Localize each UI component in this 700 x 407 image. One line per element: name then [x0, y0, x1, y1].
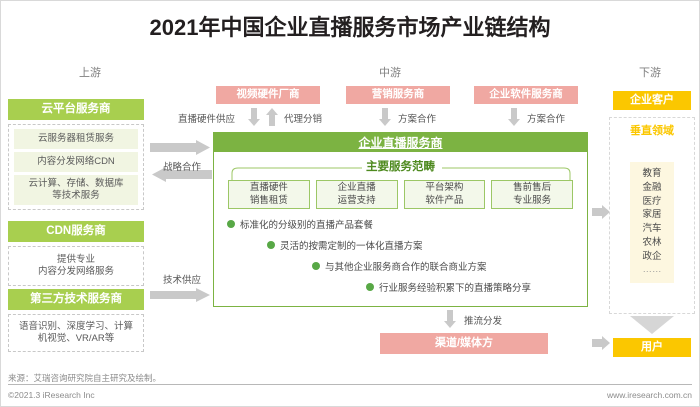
bullet-label: 标准化的分级别的直播产品套餐 — [240, 217, 373, 231]
section-label-midstream: 中游 — [350, 64, 430, 80]
up-arrow-icon — [266, 108, 278, 126]
page-title: 2021年中国企业直播服务市场产业链结构 — [0, 10, 700, 42]
panel-bullet-2: 灵活的按需定制的一体化直播方案 — [267, 238, 423, 252]
bullet-dot-icon — [366, 283, 374, 291]
down-arrow-icon — [379, 108, 391, 126]
footer-divider-top — [8, 384, 692, 385]
upstream-item: 云服务器租赁服务 — [14, 129, 138, 149]
vertical-item: 医疗 — [630, 195, 674, 209]
panel-bullet-4: 行业服务经验积累下的直播策略分享 — [366, 280, 531, 294]
vertical-item: 政企 — [630, 250, 674, 264]
channel-media-box: 渠道/媒体方 — [380, 333, 548, 354]
partner-box-video-hardware: 视频硬件厂商 — [216, 86, 320, 104]
upstream-header-cloud-platform: 云平台服务商 — [8, 99, 144, 120]
scope-box-pre-post-sales: 售前售后 专业服务 — [491, 180, 573, 209]
upstream-item: 云计算、存储、数据库 等技术服务 — [14, 175, 138, 205]
vertical-item: 家居 — [630, 208, 674, 222]
source-note: 来源：艾瑞咨询研究院自主研究及绘制。 — [8, 372, 161, 384]
upstream-item: 提供专业 内容分发网络服务 — [14, 251, 138, 281]
right-arrow-icon — [592, 205, 610, 219]
infographic-canvas: 2021年中国企业直播服务市场产业链结构 上游 中游 下游 云平台服务商 云服务… — [0, 0, 700, 407]
connector-agent-distribution-arrow — [266, 108, 278, 126]
partner-box-enterprise-software: 企业软件服务商 — [474, 86, 578, 104]
upstream-item: 语音识别、深度学习、计算 机视觉、VR/AR等 — [14, 319, 138, 348]
bullet-dot-icon — [312, 262, 320, 270]
connector-solution-coop-arrow-1 — [379, 108, 391, 126]
vertical-item: 农林 — [630, 236, 674, 250]
right-arrow-icon — [592, 336, 610, 350]
upstream-header-cdn: CDN服务商 — [8, 221, 144, 242]
connector-stream-distribution-arrow — [444, 310, 456, 328]
connector-label-solution-coop-1: 方案合作 — [398, 111, 436, 125]
downstream-vertical-label: 垂直领域 — [630, 118, 674, 140]
connector-solution-coop-arrow-2 — [508, 108, 520, 126]
section-label-upstream: 上游 — [50, 64, 130, 80]
bullet-dot-icon — [227, 220, 235, 228]
down-arrow-icon — [444, 310, 456, 328]
upstream-items-cdn: 提供专业 内容分发网络服务 — [8, 246, 144, 286]
panel-bullet-1: 标准化的分级别的直播产品套餐 — [227, 217, 373, 231]
vertical-item: 金融 — [630, 181, 674, 195]
connector-vertical-to-user — [630, 316, 674, 334]
vertical-item: 汽车 — [630, 222, 674, 236]
bullet-label: 与其他企业服务商合作的联合商业方案 — [325, 259, 487, 273]
down-arrow-icon — [508, 108, 520, 126]
connector-label-hardware-supply: 直播硬件供应 — [178, 111, 235, 125]
connector-label-tech-supply: 技术供应 — [151, 272, 213, 286]
central-panel-header: 企业直播服务商 — [214, 133, 587, 152]
upstream-items-third-party: 语音识别、深度学习、计算 机视觉、VR/AR等 — [8, 314, 144, 352]
bullet-label: 行业服务经验积累下的直播策略分享 — [379, 280, 531, 294]
downstream-header-enterprise-client: 企业客户 — [613, 91, 691, 110]
panel-bullet-3: 与其他企业服务商合作的联合商业方案 — [312, 259, 487, 273]
connector-label-strategic-cooperation: 战略合作 — [151, 159, 213, 173]
scope-box-platform-software: 平台架构 软件产品 — [404, 180, 486, 209]
down-arrow-icon — [630, 316, 674, 334]
scope-box-live-operation: 企业直播 运营支持 — [316, 180, 398, 209]
scope-box-hardware-sales: 直播硬件 销售租赁 — [228, 180, 310, 209]
upstream-header-third-party: 第三方技术服务商 — [8, 289, 144, 310]
central-panel: 企业直播服务商 主要服务范畴 直播硬件 销售租赁 企业直播 运营支持 平台架构 … — [213, 132, 588, 307]
downstream-vertical-list: 教育 金融 医疗 家居 汽车 农林 政企 …… — [630, 162, 674, 283]
vertical-item: 教育 — [630, 167, 674, 181]
section-label-downstream: 下游 — [610, 64, 690, 80]
scope-box-row: 直播硬件 销售租赁 企业直播 运营支持 平台架构 软件产品 售前售后 专业服务 — [228, 180, 573, 209]
connector-panel-to-downstream — [592, 205, 610, 219]
connector-tech-supply — [150, 288, 212, 302]
vertical-item: …… — [630, 263, 674, 277]
downstream-vertical-box: 垂直领域 教育 金融 医疗 家居 汽车 农林 政企 …… — [609, 117, 695, 314]
website-url: www.iresearch.com.cn — [0, 390, 692, 400]
upstream-item: 内容分发网络CDN — [14, 152, 138, 172]
upstream-items-cloud-platform: 云服务器租赁服务 内容分发网络CDN 云计算、存储、数据库 等技术服务 — [8, 124, 144, 210]
bullet-dot-icon — [267, 241, 275, 249]
right-arrow-icon — [150, 288, 212, 302]
bullet-label: 灵活的按需定制的一体化直播方案 — [280, 238, 423, 252]
connector-channel-to-downstream — [592, 336, 610, 350]
partner-box-marketing-service: 营销服务商 — [346, 86, 450, 104]
connector-label-stream-distribution: 推流分发 — [464, 313, 502, 327]
down-arrow-icon — [248, 108, 260, 126]
downstream-end-user-box: 用户 — [613, 338, 691, 357]
connector-label-agent-distribution: 代理分销 — [284, 111, 322, 125]
connector-label-solution-coop-2: 方案合作 — [527, 111, 565, 125]
connector-hardware-supply-arrow — [248, 108, 260, 126]
